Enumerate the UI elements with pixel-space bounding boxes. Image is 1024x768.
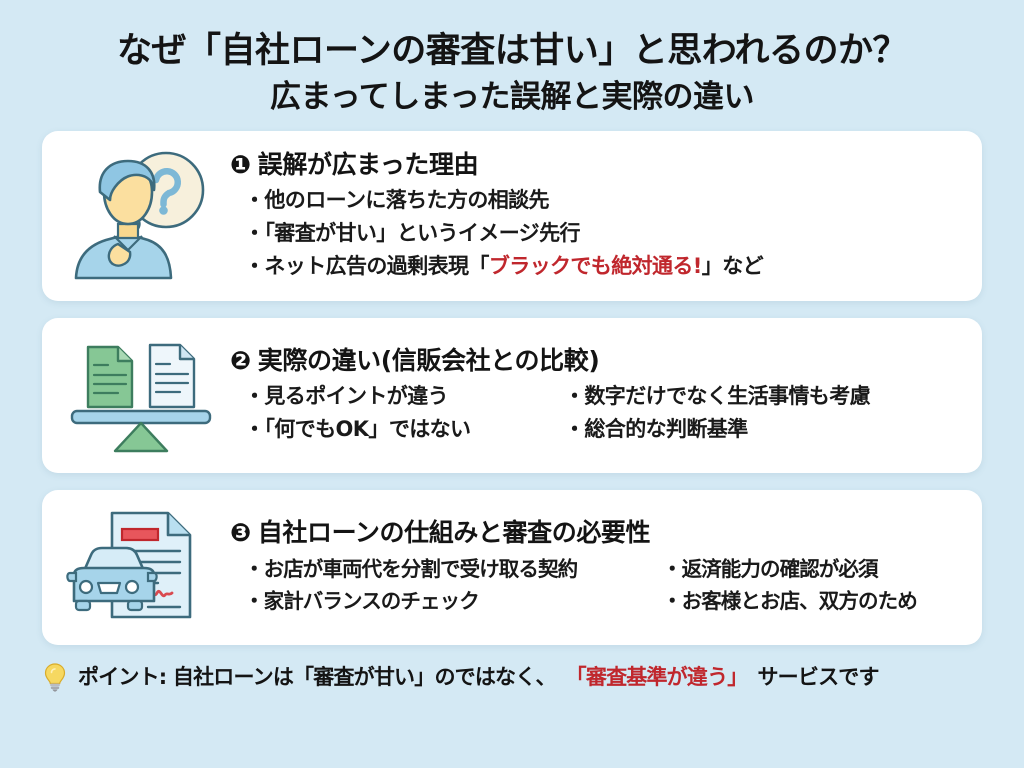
card-2-row-1-left: ・見るポイントが違う bbox=[244, 380, 564, 413]
card-2-heading-text: 実際の違い(信販会社との比較) bbox=[258, 345, 600, 376]
card-1-number: ❶ bbox=[230, 152, 251, 177]
footer-highlight: 「審査基準が違う」 bbox=[566, 661, 748, 691]
card-3-body: ❸ 自社ローンの仕組みと審査の必要性 ・お店が車両代を分割で受け取る契約 ・返済… bbox=[230, 517, 966, 617]
card-3-row-2-left: ・家計バランスのチェック bbox=[244, 585, 662, 617]
card-1-bullet-3-prefix: ・ネット広告の過剰表現「 bbox=[244, 254, 489, 278]
title-line-2: 広まってしまった誤解と実際の違い bbox=[20, 77, 1004, 117]
card-1-bullet-3-suffix: 」など bbox=[702, 254, 763, 278]
car-contract-icon bbox=[52, 500, 230, 635]
card-2-row-2-left: ・「何でもOK」ではない bbox=[244, 413, 564, 446]
card-2-number: ❷ bbox=[230, 348, 251, 373]
card-1-bullet-1: ・他のローンに落ちた方の相談先 bbox=[230, 184, 962, 217]
card-3-row-1: ・お店が車両代を分割で受け取る契約 ・返済能力の確認が必須 bbox=[230, 553, 962, 585]
card-3-number: ❸ bbox=[230, 520, 251, 545]
card-3-heading: ❸ 自社ローンの仕組みと審査の必要性 bbox=[230, 517, 962, 548]
card-1-bullet-3: ・ネット広告の過剰表現「ブラックでも絶対通る!」など bbox=[230, 250, 962, 283]
card-2-row-2: ・「何でもOK」ではない ・総合的な判断基準 bbox=[230, 413, 962, 446]
card-actual-differences: ❷ 実際の違い(信販会社との比較) ・見るポイントが違う ・数字だけでなく生活事… bbox=[42, 318, 982, 473]
thinking-person-question-icon bbox=[52, 141, 230, 291]
card-3-row-1-right: ・返済能力の確認が必須 bbox=[662, 553, 962, 585]
card-3-row-2-right: ・お客様とお店、双方のため bbox=[662, 585, 962, 617]
footer-point: ポイント: 自社ローンは「審査が甘い」のではなく、「審査基準が違う」サービスです bbox=[0, 661, 1024, 691]
footer-prefix: ポイント: 自社ローンは「審査が甘い」のではなく、 bbox=[78, 661, 556, 691]
card-1-heading-text: 誤解が広まった理由 bbox=[258, 149, 478, 180]
title-line-1: なぜ「自社ローンの審査は甘い」と思われるのか？ bbox=[20, 30, 1004, 73]
card-misconception-reasons: ❶ 誤解が広まった理由 ・他のローンに落ちた方の相談先 ・「審査が甘い」というイ… bbox=[42, 131, 982, 301]
card-2-row-2-right: ・総合的な判断基準 bbox=[564, 413, 962, 446]
card-2-row-1-right: ・数字だけでなく生活事情も考慮 bbox=[564, 380, 962, 413]
card-list: ❶ 誤解が広まった理由 ・他のローンに落ちた方の相談先 ・「審査が甘い」というイ… bbox=[0, 131, 1024, 645]
infographic-page: なぜ「自社ローンの審査は甘い」と思われるのか？ 広まってしまった誤解と実際の違い bbox=[0, 0, 1024, 768]
card-3-heading-text: 自社ローンの仕組みと審査の必要性 bbox=[258, 517, 650, 548]
card-1-body: ❶ 誤解が広まった理由 ・他のローンに落ちた方の相談先 ・「審査が甘い」というイ… bbox=[230, 149, 966, 284]
card-2-body: ❷ 実際の違い(信販会社との比較) ・見るポイントが違う ・数字だけでなく生活事… bbox=[230, 345, 966, 447]
card-3-row-1-left: ・お店が車両代を分割で受け取る契約 bbox=[244, 553, 662, 585]
balance-scale-documents-icon bbox=[52, 328, 230, 463]
card-1-bullet-2: ・「審査が甘い」というイメージ先行 bbox=[230, 217, 962, 250]
lightbulb-icon bbox=[42, 662, 68, 692]
card-2-row-1: ・見るポイントが違う ・数字だけでなく生活事情も考慮 bbox=[230, 380, 962, 413]
card-1-heading: ❶ 誤解が広まった理由 bbox=[230, 149, 962, 180]
footer-suffix: サービスです bbox=[757, 661, 878, 691]
page-title: なぜ「自社ローンの審査は甘い」と思われるのか？ 広まってしまった誤解と実際の違い bbox=[0, 0, 1024, 117]
card-2-heading: ❷ 実際の違い(信販会社との比較) bbox=[230, 345, 962, 376]
card-3-row-2: ・家計バランスのチェック ・お客様とお店、双方のため bbox=[230, 585, 962, 617]
card-loan-structure: ❸ 自社ローンの仕組みと審査の必要性 ・お店が車両代を分割で受け取る契約 ・返済… bbox=[42, 490, 982, 645]
card-1-bullet-3-highlight: ブラックでも絶対通る! bbox=[489, 254, 702, 278]
